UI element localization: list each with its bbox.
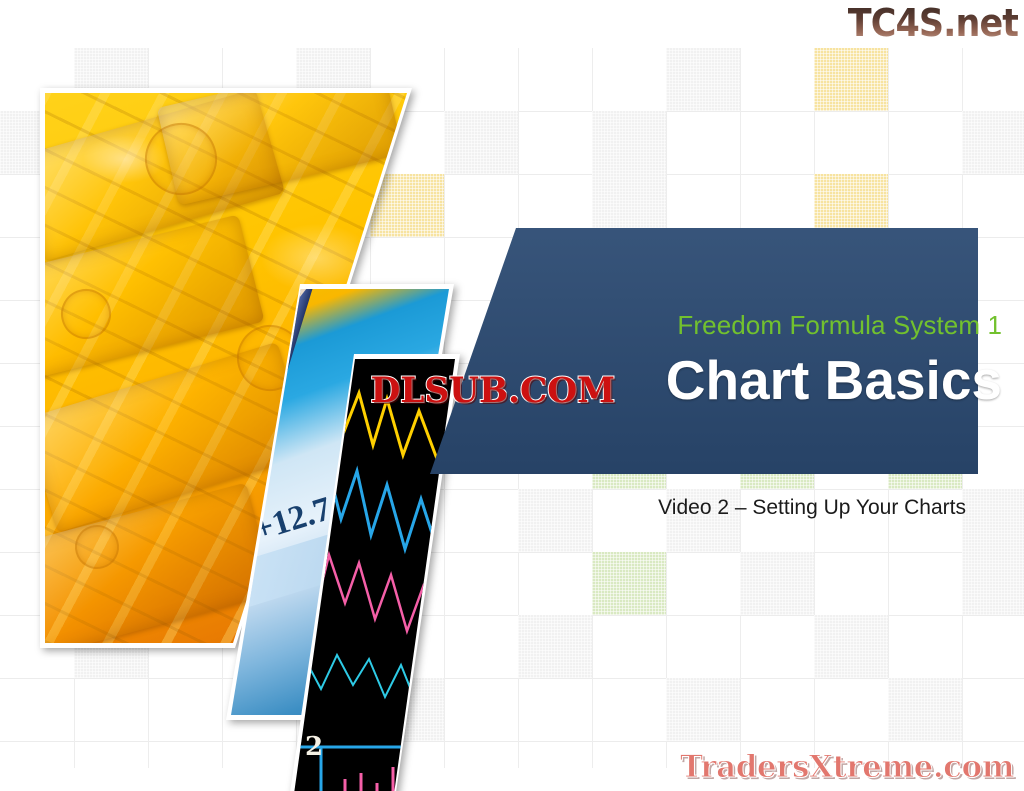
background-tile [592, 552, 666, 615]
tile-texture [666, 48, 740, 111]
background-tile [962, 489, 1024, 552]
background-tile [962, 552, 1024, 615]
tile-texture [592, 552, 666, 615]
tile-texture [444, 111, 518, 174]
eyebrow-text: Freedom Formula System 1 [0, 310, 1002, 341]
dlsub-watermark: DLSUB.COM [370, 370, 615, 411]
subtitle-text: Video 2 – Setting Up Your Charts [0, 496, 966, 520]
tile-texture [592, 174, 666, 237]
background-tile [666, 48, 740, 111]
tile-texture [666, 678, 740, 741]
background-tile [814, 48, 888, 111]
dark-axis-label: 2 [305, 732, 323, 762]
grid-line-horizontal [0, 741, 1024, 742]
background-tile [962, 111, 1024, 174]
tile-texture [592, 111, 666, 174]
background-tile [592, 111, 666, 174]
tc4s-watermark: TC4S.net [848, 1, 1018, 45]
tile-texture [518, 615, 592, 678]
tile-texture [962, 552, 1024, 615]
tile-texture [814, 174, 888, 237]
background-tile [666, 678, 740, 741]
tile-texture [888, 678, 962, 741]
tile-texture [740, 552, 814, 615]
tile-texture [814, 48, 888, 111]
background-tile [592, 174, 666, 237]
tradersxtreme-watermark: TradersXtreme.com [680, 749, 1014, 785]
tile-texture [962, 489, 1024, 552]
background-tile [518, 615, 592, 678]
background-tile [888, 678, 962, 741]
tile-texture [962, 111, 1024, 174]
presentation-slide: +12.7 2 [0, 0, 1024, 791]
background-tile [814, 174, 888, 237]
tile-texture [814, 615, 888, 678]
background-tile [740, 552, 814, 615]
background-tile [814, 615, 888, 678]
background-tile [444, 111, 518, 174]
